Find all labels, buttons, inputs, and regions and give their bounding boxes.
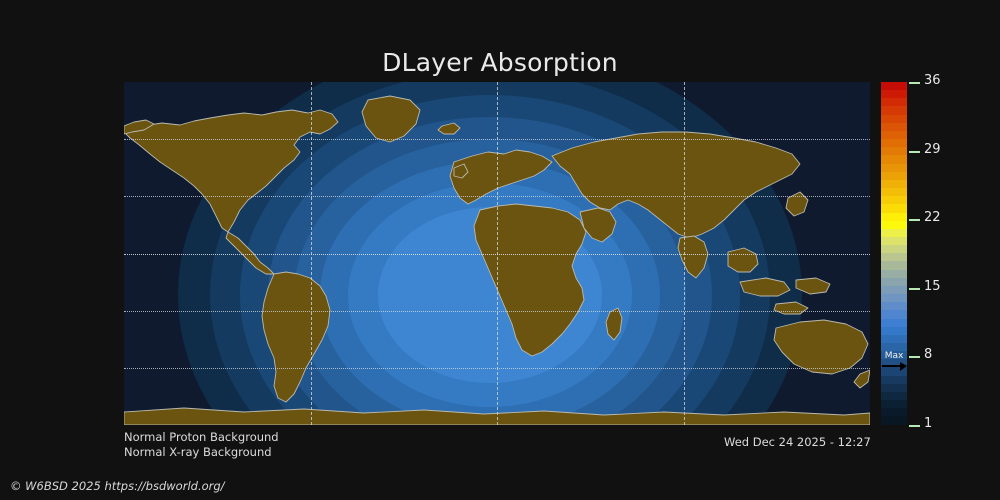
colorbar-tick-15 (909, 288, 920, 290)
colorbar-segment (881, 253, 907, 261)
copyright-notice: © W6BSD 2025 https://bsdworld.org/ (10, 479, 225, 493)
colorbar-segment (881, 278, 907, 286)
colorbar-segment (881, 376, 907, 384)
colorbar-segment (881, 164, 907, 172)
colorbar-segment (881, 310, 907, 318)
colorbar-segment (881, 327, 907, 335)
proton-background-note: Normal Proton Background (124, 430, 279, 444)
colorbar-segment (881, 106, 907, 114)
colorbar-segment (881, 82, 907, 90)
colorbar-segment (881, 400, 907, 408)
colorbar-segment (881, 90, 907, 98)
colorbar-segment (881, 213, 907, 221)
colorbar-segment (881, 98, 907, 106)
colorbar-segment (881, 139, 907, 147)
colorbar-tick-8 (909, 356, 920, 358)
colorbar-tick-22 (909, 219, 920, 221)
colorbar-segment (881, 180, 907, 188)
page-title: DLayer Absorption (0, 48, 1000, 77)
colorbar-segment (881, 196, 907, 204)
colorbar-tick-29 (909, 151, 920, 153)
gridline-lat--30 (124, 311, 870, 312)
world-map[interactable] (124, 82, 870, 425)
colorbar-segment (881, 131, 907, 139)
colorbar-segment (881, 155, 907, 163)
colorbar-segment (881, 302, 907, 310)
colorbar-segment (881, 221, 907, 229)
colorbar-segment (881, 147, 907, 155)
colorbar-segment (881, 294, 907, 302)
colorbar-title: Affected Frequency (MHz) (927, 82, 1000, 425)
colorbar-segment (881, 416, 907, 424)
colorbar-segment (881, 115, 907, 123)
colorbar-max-label: Max (881, 350, 907, 362)
colorbar-segment (881, 270, 907, 278)
timestamp: Wed Dec 24 2025 - 12:27 (724, 435, 871, 449)
colorbar-segment (881, 392, 907, 400)
colorbar-max-arrow-icon (881, 362, 907, 372)
colorbar-segment (881, 245, 907, 253)
dlayer-absorption-plot: DLayer Absorption (0, 0, 1000, 500)
gridline-lat-30 (124, 196, 870, 197)
colorbar-tick-1 (909, 425, 920, 427)
colorbar-segment (881, 335, 907, 343)
xray-background-note: Normal X-ray Background (124, 445, 272, 459)
colorbar-segment (881, 172, 907, 180)
colorbar-segment (881, 229, 907, 237)
colorbar-segment (881, 286, 907, 294)
colorbar-segment (881, 188, 907, 196)
colorbar-segment (881, 408, 907, 416)
gridline-lat--60 (124, 368, 870, 369)
gridline-lat-60 (124, 139, 870, 140)
colorbar-segment (881, 384, 907, 392)
colorbar[interactable] (881, 82, 907, 425)
colorbar-tick-36 (909, 82, 920, 84)
colorbar-segment (881, 319, 907, 327)
colorbar-segment (881, 261, 907, 269)
gridline-lat-0 (124, 254, 870, 255)
colorbar-segment (881, 123, 907, 131)
colorbar-segment (881, 204, 907, 212)
colorbar-segment (881, 237, 907, 245)
